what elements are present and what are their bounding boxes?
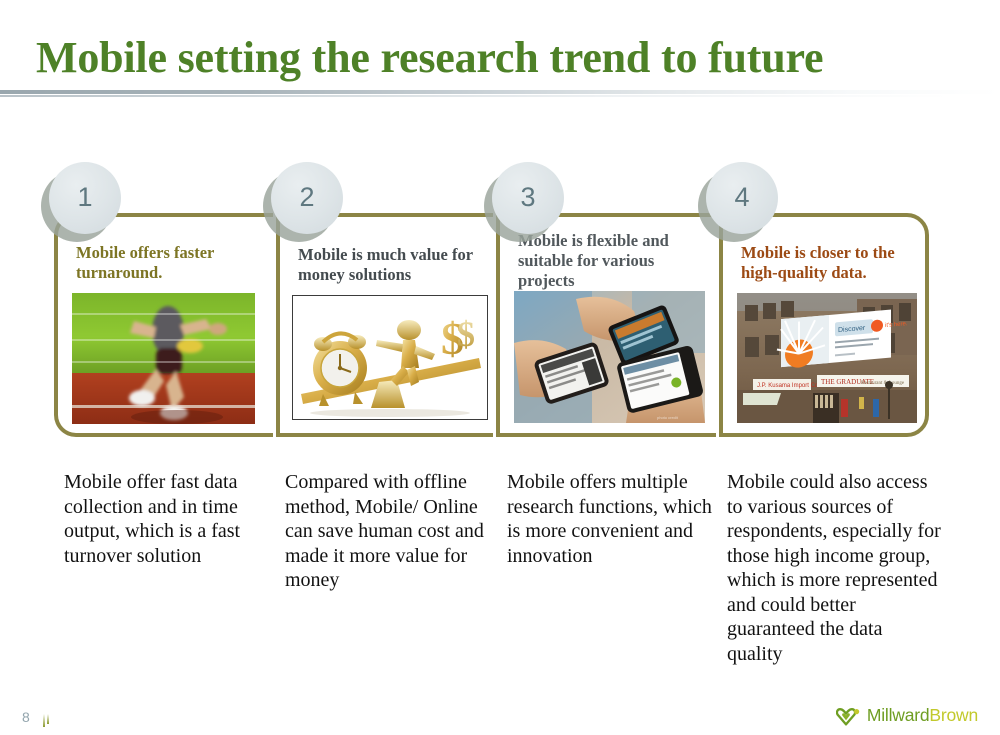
card-2-body-text: Compared with offline method, Mobile/ On… [285,470,490,593]
footer-tick-mark [43,714,51,728]
runner-on-track-photo [72,293,255,424]
millward-brown-wordmark: MillwardBrown [867,707,978,725]
page-number: 8 [22,709,30,725]
card-2[interactable]: Mobile is much value for money solutions [276,213,493,437]
step-badge-4-circle: 4 [706,162,778,234]
step-badge-2-circle: 2 [271,162,343,234]
card-1-body-text: Mobile offer fast data collection and in… [64,470,264,568]
millward-brown-logo: MillwardBrown [836,706,978,726]
step-badge-2-number: 2 [299,184,314,211]
step-badge-3: 3 [492,162,564,234]
billboard-on-building-photo: Discover it's here. J.P. Kusama Import C… [737,293,917,423]
card-4[interactable]: Mobile is closer to the high-quality dat… [719,213,929,437]
step-badge-1: 1 [49,162,121,234]
card-3-body-text: Mobile offers multiple research function… [507,470,712,568]
step-badge-4-number: 4 [734,184,749,211]
card-4-body-text: Mobile could also access to various sour… [727,470,942,666]
step-badge-1-number: 1 [77,184,92,211]
step-badge-1-circle: 1 [49,162,121,234]
card-3-title: Mobile is flexible and suitable for vari… [518,231,704,291]
brand-name-part2: Brown [929,705,978,725]
card-4-title: Mobile is closer to the high-quality dat… [741,243,913,283]
svg-text:$: $ [457,314,475,354]
brand-name-part1: Millward [867,705,930,725]
card-3[interactable]: Mobile is flexible and suitable for vari… [496,213,716,437]
card-1[interactable]: Mobile offers faster turnaround. [54,213,273,437]
step-badge-2: 2 [271,162,343,234]
step-badge-3-number: 3 [520,184,535,211]
hands-holding-smartphones-photo: photo credit [514,291,705,423]
card-1-title: Mobile offers faster turnaround. [76,243,261,283]
svg-text:Restaurant & Lounge: Restaurant & Lounge [861,381,905,386]
step-badge-3-circle: 3 [492,162,564,234]
card-2-title: Mobile is much value for money solutions [298,245,481,285]
millward-brown-heart-icon [836,706,860,726]
gold-clock-seesaw-dollar-photo: $ $ [292,295,488,420]
step-badge-4: 4 [706,162,778,234]
svg-text:photo credit: photo credit [657,415,679,420]
